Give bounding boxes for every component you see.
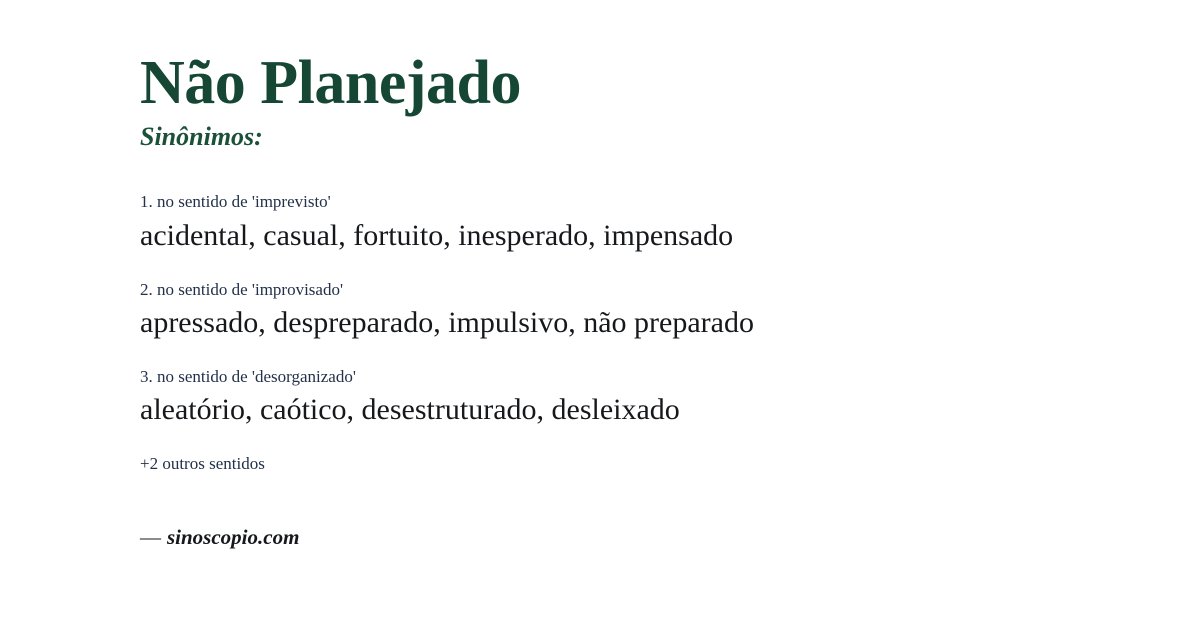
sense-synonyms: acidental, casual, fortuito, inesperado,…	[140, 216, 1140, 255]
sense-block: 3. no sentido de 'desorganizado' aleatór…	[140, 366, 1140, 429]
more-senses-note: +2 outros sentidos	[140, 453, 1140, 475]
page-title: Não Planejado	[140, 52, 1140, 115]
em-dash: —	[140, 525, 161, 549]
sense-block: 1. no sentido de 'imprevisto' acidental,…	[140, 191, 1140, 254]
sense-label: 3. no sentido de 'desorganizado'	[140, 366, 1140, 387]
synonym-card: Não Planejado Sinônimos: 1. no sentido d…	[0, 0, 1200, 628]
sense-block: 2. no sentido de 'improvisado' apressado…	[140, 279, 1140, 342]
sense-label: 1. no sentido de 'imprevisto'	[140, 191, 1140, 212]
sense-synonyms: apressado, despreparado, impulsivo, não …	[140, 303, 1140, 342]
sense-label: 2. no sentido de 'improvisado'	[140, 279, 1140, 300]
subtitle-synonyms: Sinônimos:	[140, 121, 1140, 152]
source-name: sinoscopio.com	[167, 525, 299, 549]
source-attribution: —sinoscopio.com	[140, 525, 1140, 550]
sense-list: 1. no sentido de 'imprevisto' acidental,…	[140, 191, 1140, 429]
sense-synonyms: aleatório, caótico, desestruturado, desl…	[140, 390, 1140, 429]
